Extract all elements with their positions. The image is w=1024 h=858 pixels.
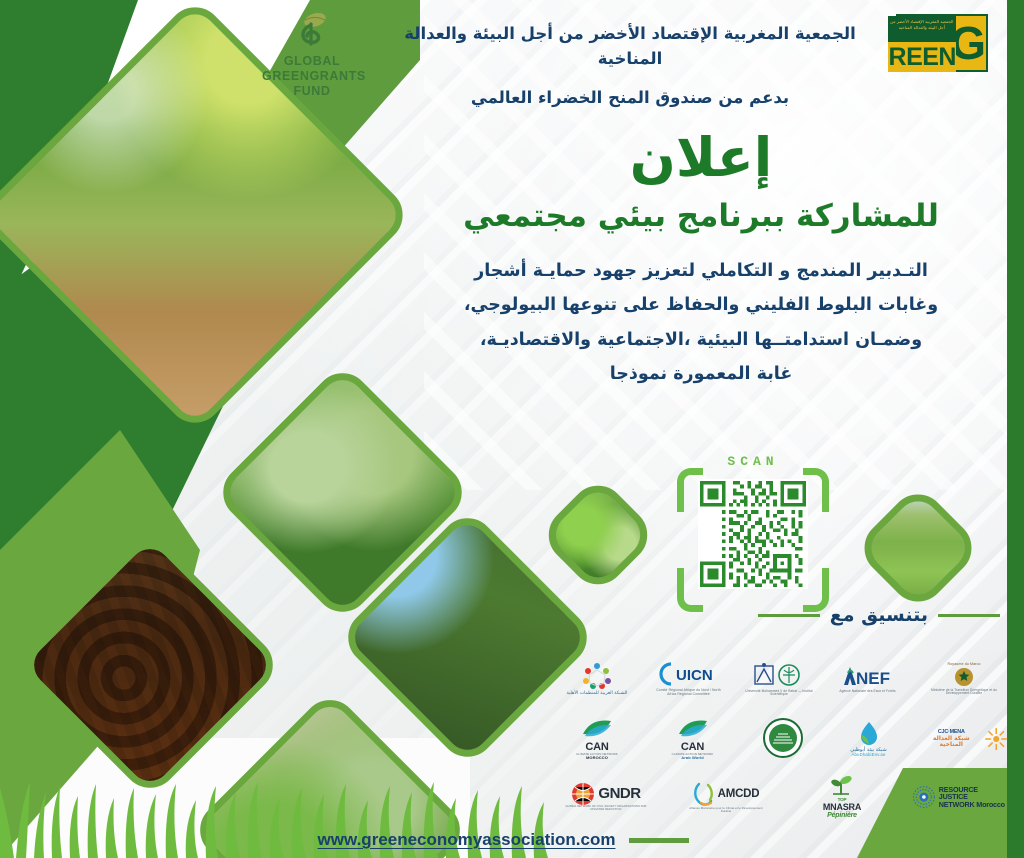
mnasra-sprout-icon xyxy=(827,774,857,796)
partner-gndr-name: GNDR xyxy=(598,786,640,802)
announcement-body-line-4: غابة المعمورة نموذجا xyxy=(406,357,996,391)
svg-text:UICN: UICN xyxy=(676,667,713,684)
partner-logo-cjc-mena: CJC·MENA شبكة العدالة المناخية xyxy=(922,726,1008,752)
partner-rjn-sub: NETWORK Morocco xyxy=(939,801,1008,809)
ggf-line-3: FUND xyxy=(262,84,362,99)
partner-amcdd-name: AMCDD xyxy=(718,788,760,800)
coordination-label-row: بتنسيق مع xyxy=(600,604,1000,626)
qr-code-block[interactable]: SCAN xyxy=(672,456,834,616)
partner-logo-arab-boundary-union xyxy=(751,717,815,761)
poster-root: GLOBAL GREENGRANTS FUND الجمعية المغربية… xyxy=(0,0,1024,858)
coordination-label: بتنسيق مع xyxy=(830,604,928,626)
partner-logo-gndr: GNDR GLOBAL NETWORK OF CIVIL SOCIETY ORG… xyxy=(560,782,652,811)
institut-scientifique-icon xyxy=(753,662,805,688)
green-association-logo: G الجمعية المغربية الإقتصاد الأخضر من أج… xyxy=(896,14,988,72)
partner-row-2: CAN CLIMATE ACTION NETWORK MOROCCO CAN C… xyxy=(560,710,1008,768)
partner-logo-arab-network: الشبكة العربية للمنظمات الأهلية xyxy=(560,662,634,697)
announcement-subhead: للمشاركة ببرنامج بيئي مجتمعي xyxy=(406,196,996,238)
poster-header: GLOBAL GREENGRANTS FUND الجمعية المغربية… xyxy=(0,0,1024,108)
svg-text:NEF: NEF xyxy=(856,669,890,688)
uicn-icon: UICN xyxy=(658,661,720,687)
green-logo-arabic-caption: الجمعية المغربية الإقتصاد الأخضر من أجل … xyxy=(888,16,956,42)
header-donor-credit: بدعم من صندوق المنح الخضراء العالمي xyxy=(370,86,890,111)
can-arab-world-icon xyxy=(677,718,709,740)
qr-scan-label: SCAN xyxy=(672,454,834,469)
partner-gndr-sub: GLOBAL NETWORK OF CIVIL SOCIETY ORGANISA… xyxy=(563,806,649,811)
coordination-line-left xyxy=(758,614,820,617)
partner-mnasra-sub2: Pépinière xyxy=(827,812,857,819)
abudhabi-env-icon xyxy=(858,720,880,746)
cjc-mena-sun-icon xyxy=(984,726,1008,752)
resource-justice-burst-icon xyxy=(912,785,936,809)
partner-institut-sub: Université Mohammed V de Rabat — Institu… xyxy=(744,690,814,697)
amcdd-icon xyxy=(693,781,715,807)
website-url[interactable]: www.greeneconomyassociation.com xyxy=(318,830,616,850)
partner-logo-can-morocco: CAN CLIMATE ACTION NETWORK MOROCCO xyxy=(560,718,634,761)
morocco-coat-of-arms-icon xyxy=(954,667,974,687)
green-logo-wordmark: REEN xyxy=(888,42,956,72)
qr-code-image[interactable] xyxy=(698,479,808,589)
partner-mnasra-name: MNASRA xyxy=(823,803,861,812)
right-edge-bar xyxy=(1007,0,1024,858)
ggf-line-1: GLOBAL xyxy=(262,54,362,69)
partner-can-morocco-region: MOROCCO xyxy=(586,756,608,760)
green-logo-letter-g: G xyxy=(956,16,986,70)
partner-logo-abudhabi-env: شبكة بيئة أبوظبي AbuDhabiEnv.ae xyxy=(834,720,904,758)
partner-row-1: الشبكة العربية للمنظمات الأهلية UICN Com… xyxy=(560,648,1008,710)
partner-ministry-sub: Ministère de la Transition Énergétique e… xyxy=(929,689,999,696)
partner-row-3: GNDR GLOBAL NETWORK OF CIVIL SOCIETY ORG… xyxy=(560,768,1008,826)
announcement-body-line-1: التـدبير المندمج و التكاملي لتعزيز جهود … xyxy=(406,254,996,288)
partner-logo-institut-scientifique: Université Mohammed V de Rabat — Institu… xyxy=(743,662,815,697)
coordination-line-right xyxy=(938,614,1000,617)
partner-uicn-sub: Comité Régional Afrique du Nord / North … xyxy=(654,689,724,696)
partner-anef-sub: Agence Nationale des Eaux et Forêts xyxy=(839,690,895,693)
partner-logo-top-mnasra: TOP MNASRA Pépinière xyxy=(800,774,884,820)
ggf-line-2: GREENGRANTS xyxy=(262,69,362,84)
anef-icon: NEF xyxy=(835,664,901,688)
arab-network-icon xyxy=(582,662,612,690)
can-morocco-icon xyxy=(581,718,613,740)
ggf-logo-text: GLOBAL GREENGRANTS FUND xyxy=(262,54,362,98)
announcement-title-block: إعلان للمشاركة ببرنامج بيئي مجتمعي التـد… xyxy=(406,128,996,391)
announcement-body-line-3: وضمـان استدامتــها البيئية ،الاجتماعية و… xyxy=(406,323,996,357)
partner-arab-network-arabic: الشبكة العربية للمنظمات الأهلية xyxy=(567,692,628,697)
header-arabic-text: الجمعية المغربية الإقتصاد الأخضر من أجل … xyxy=(370,22,890,110)
global-greengrants-fund-logo: GLOBAL GREENGRANTS FUND xyxy=(262,12,362,98)
partner-logo-anef: NEF Agence Nationale des Eaux et Forêts xyxy=(829,664,907,693)
header-org-name: الجمعية المغربية الإقتصاد الأخضر من أجل … xyxy=(370,22,890,72)
partner-logo-can-arab-world: CAN CLIMATE ACTION NETWORK Arab World xyxy=(653,718,733,761)
announcement-headline: إعلان xyxy=(406,128,996,188)
partner-rjn-name: RESOURCE JUSTICE xyxy=(939,786,1008,801)
sprout-leaf-icon xyxy=(295,12,329,50)
footer-website-row: www.greeneconomyassociation.com xyxy=(0,830,1007,850)
partner-amcdd-sub: Alliance Marocaine pour le Climat et le … xyxy=(686,807,766,813)
partner-logo-ministry-morocco: Royaume du Maroc Ministère de la Transit… xyxy=(920,663,1008,695)
partner-can-arab-region: Arab World xyxy=(681,756,703,760)
partner-logo-resource-justice-network: RESOURCE JUSTICE NETWORK Morocco xyxy=(912,785,1008,809)
partner-abudhabi-sub: AbuDhabiEnv.ae xyxy=(851,753,885,758)
partner-cjc-mena-arabic: شبكة العدالة المناخية xyxy=(922,736,981,749)
partner-logos-grid: الشبكة العربية للمنظمات الأهلية UICN Com… xyxy=(560,648,1008,830)
partner-logo-uicn: UICN Comité Régional Afrique du Nord / N… xyxy=(648,661,730,696)
announcement-body: التـدبير المندمج و التكاملي لتعزيز جهود … xyxy=(406,254,996,391)
arab-boundary-union-icon xyxy=(762,717,804,759)
gndr-globe-icon xyxy=(571,782,595,806)
announcement-body-line-2: وغابات البلوط الفليني والحفاظ على تنوعها… xyxy=(406,288,996,322)
partner-logo-amcdd: AMCDD Alliance Marocaine pour le Climat … xyxy=(680,781,772,813)
website-accent-bar xyxy=(629,838,689,843)
